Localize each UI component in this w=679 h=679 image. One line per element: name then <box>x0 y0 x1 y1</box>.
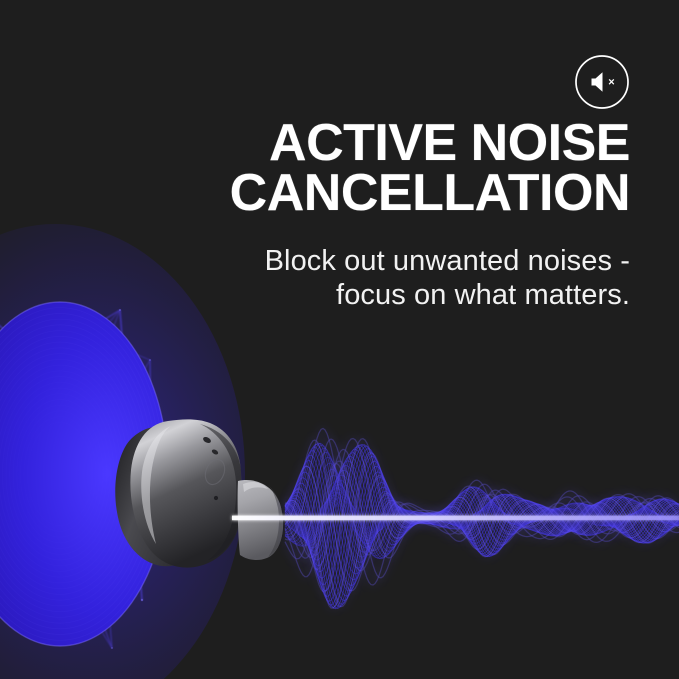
dome-ridge <box>28 422 93 525</box>
dome-ridge <box>0 336 146 611</box>
dome-ridge <box>0 371 125 577</box>
mesh-node <box>149 359 151 361</box>
waveform-line <box>285 466 679 558</box>
waveform-line <box>285 443 679 568</box>
waveform-line <box>285 449 679 602</box>
waveform-line <box>285 492 679 545</box>
noise-dome-ellipse <box>0 302 168 646</box>
waveform-line <box>285 445 679 591</box>
earbud-shading <box>200 424 241 560</box>
earbud-gloss <box>141 426 171 544</box>
dome-ridge <box>0 325 154 623</box>
mesh-line <box>92 400 112 648</box>
mute-cross-icon: × <box>608 76 614 88</box>
earbud-rear-shell <box>115 427 200 567</box>
waveform-line <box>285 446 679 597</box>
dome-ridge <box>2 382 117 565</box>
waveform-line <box>285 457 679 556</box>
mesh-node <box>152 557 154 559</box>
waveform-line <box>285 452 679 605</box>
headline-line-1: ACTIVE NOISE <box>40 118 630 168</box>
copy-block: ACTIVE NOISE CANCELLATION Block out unwa… <box>40 118 630 312</box>
earbud-mic-port-1 <box>202 436 212 445</box>
waveform-line <box>285 469 679 545</box>
waveform-line <box>285 500 679 540</box>
earbud-mic-port-2 <box>211 449 219 456</box>
dome-ridge <box>13 400 107 549</box>
dome-ridge <box>20 411 99 537</box>
waveform-line <box>285 453 679 560</box>
mesh-node <box>141 599 143 601</box>
earbud-ear-tip <box>238 480 284 560</box>
mesh-line <box>55 321 158 471</box>
waveform-edge-line <box>285 461 679 577</box>
waveform-line <box>285 451 679 591</box>
waveform-edge-line <box>285 429 679 571</box>
waveform-edge-line <box>285 439 679 559</box>
mesh-node <box>114 589 117 592</box>
dome-ridge <box>0 331 150 618</box>
waveform-line <box>285 480 679 558</box>
mesh-line <box>134 529 151 593</box>
mesh-node <box>54 319 56 321</box>
waveform-line <box>285 495 679 547</box>
waveform-line <box>285 498 679 543</box>
waveform-line <box>285 492 679 550</box>
mesh-line <box>3 578 135 593</box>
waveform-line <box>285 467 679 609</box>
mesh-line <box>0 403 81 615</box>
mesh-node <box>157 469 160 472</box>
waveform-edge-line <box>285 440 679 591</box>
waveform-line <box>285 476 679 547</box>
dome-ridge <box>10 394 111 555</box>
mesh-line <box>50 360 150 550</box>
mesh-line <box>55 321 150 361</box>
mesh-line <box>50 550 112 648</box>
earbud-sensor-ring <box>202 457 228 488</box>
mesh-line <box>28 321 55 551</box>
waveform-edge-line <box>285 439 679 570</box>
mesh-node <box>133 591 136 594</box>
mesh-line <box>0 310 120 403</box>
dome-ridge <box>0 319 157 629</box>
earbud-body <box>130 419 242 567</box>
waveform-line <box>285 444 679 579</box>
mesh-line <box>0 315 92 400</box>
mesh-line <box>3 551 28 578</box>
dome-ridge-lines <box>0 302 168 646</box>
waveform-line <box>285 461 679 609</box>
waveform-line <box>285 470 679 558</box>
mesh-line <box>0 400 92 437</box>
dome-ridge <box>0 377 121 572</box>
mute-speaker-icon <box>592 72 603 92</box>
waveform-edge-line <box>285 464 679 585</box>
mesh-line <box>50 550 116 591</box>
dome-ridge <box>0 308 164 641</box>
audio-waveform <box>285 443 679 609</box>
dome-rim-light <box>0 302 168 646</box>
mesh-node <box>120 451 122 453</box>
mesh-node-dots <box>0 309 159 649</box>
dome-ridge <box>0 302 168 646</box>
waveform-line <box>285 444 679 584</box>
earbud-tip-highlight <box>243 482 268 492</box>
waveform-line <box>285 472 679 607</box>
waveform-line <box>285 455 679 596</box>
headline-line-2: CANCELLATION <box>40 168 630 218</box>
earbud-product <box>115 419 283 567</box>
mesh-line <box>0 315 112 648</box>
waveform-edge-line <box>285 439 679 592</box>
waveform-line <box>285 501 679 541</box>
mesh-line <box>28 310 120 551</box>
waveform-line <box>285 458 679 548</box>
waveform-edge-line <box>285 453 679 608</box>
mesh-node <box>91 399 93 401</box>
waveform-line <box>285 449 679 565</box>
waveform-line <box>285 447 679 572</box>
mesh-line <box>0 315 3 578</box>
mesh-line <box>3 529 151 578</box>
mesh-line <box>0 315 87 623</box>
mesh-node <box>85 621 88 624</box>
earbud-mic-port-3 <box>214 496 218 500</box>
dome-ridge <box>0 314 161 635</box>
mesh-node <box>150 528 152 530</box>
earbud-ear-tip-shade <box>266 483 283 557</box>
mesh-line <box>3 360 150 578</box>
subtitle-block: Block out unwanted noises - focus on wha… <box>40 244 630 312</box>
audio-waveform-highlights <box>285 429 679 609</box>
mesh-line <box>150 360 153 558</box>
dome-ridge <box>17 405 103 543</box>
dome-ridge <box>24 417 96 532</box>
waveform-line <box>285 463 679 544</box>
dome-ridge <box>0 348 139 600</box>
waveform-line <box>285 475 679 559</box>
waveform-line <box>285 452 679 552</box>
waveform-edge-line <box>285 449 679 577</box>
subtitle-line-1: Block out unwanted noises - <box>40 244 630 278</box>
waveform-line <box>285 487 679 546</box>
waveform-line <box>285 445 679 562</box>
mesh-node <box>111 647 113 649</box>
dome-ridge <box>0 365 128 583</box>
waveform-line <box>285 482 679 547</box>
waveform-line <box>285 502 679 536</box>
waveform-line <box>285 448 679 557</box>
mesh-line <box>120 310 142 600</box>
dome-ridge <box>0 359 132 588</box>
waveform-line <box>285 466 679 604</box>
waveform-line <box>285 443 679 574</box>
mute-speaker-badge[interactable]: × <box>574 54 630 110</box>
waveform-line <box>285 489 679 554</box>
waveform-edge-line <box>285 466 679 607</box>
subtitle-line-2: focus on what matters. <box>40 278 630 312</box>
waveform-axis-line <box>232 516 679 521</box>
dome-ridge <box>0 354 136 595</box>
dome-ridge <box>0 342 143 606</box>
mesh-line <box>0 455 151 529</box>
mesh-node <box>80 614 82 616</box>
mesh-line <box>0 310 120 455</box>
mesh-node <box>1 577 4 580</box>
mesh-node <box>27 550 29 552</box>
waveform-line <box>285 461 679 557</box>
waveform-line <box>285 497 679 543</box>
dome-ridge <box>6 388 114 560</box>
anc-promo-banner: × ACTIVE NOISE CANCELLATION Block out un… <box>0 0 679 679</box>
waveform-line <box>285 447 679 586</box>
mesh-node <box>49 548 52 551</box>
waveform-line <box>285 484 679 556</box>
waveform-line <box>285 445 679 578</box>
waveform-line <box>285 461 679 601</box>
polygon-mesh-lines <box>0 310 158 648</box>
waveform-line <box>285 456 679 607</box>
